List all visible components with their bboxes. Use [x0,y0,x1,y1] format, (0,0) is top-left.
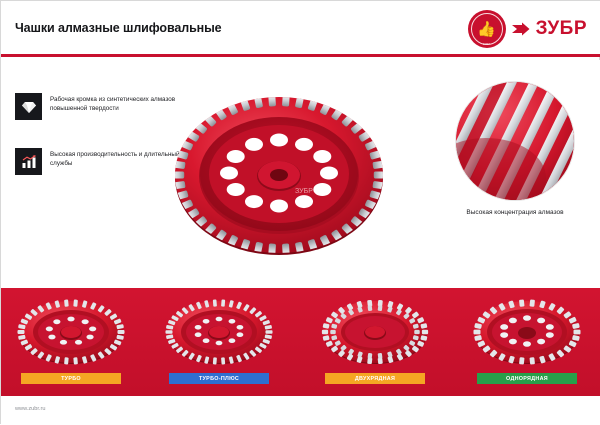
magnified-detail-image [456,82,574,200]
brand-name: ЗУБР [536,18,587,40]
footer-url[interactable]: www.zubr.ru [15,406,45,412]
product-variant-turbo-plus[interactable]: ТУРБО-ПЛЮС [155,296,283,388]
product-variant-turbo[interactable]: ТУРБО [7,296,135,388]
product-variant-two-row[interactable]: ДВУХРЯДНАЯ [311,296,439,388]
product-thumb [7,296,135,368]
svg-text:ЗУБР: ЗУБР [295,188,313,195]
poster-page: Чашки алмазные шлифовальные 👍 ЗУБР ЗУБР [0,0,600,424]
diamond-icon [15,93,42,120]
product-tag: ТУРБО [21,373,121,384]
brand-logo: 👍 ЗУБР ЗУБР [468,10,587,48]
seal-caption: ЗУБР [468,43,506,46]
arrow-right-icon [512,22,530,36]
magnified-detail-caption: Высокая концентрация алмазов [444,208,586,218]
footer-bar: www.zubr.ru [1,396,600,425]
product-thumb [463,296,591,368]
product-tag: ТУРБО-ПЛЮС [169,373,269,384]
product-tag: ОДНОРЯДНАЯ [477,373,577,384]
product-thumb [155,296,283,368]
product-variant-single-row[interactable]: ОДНОРЯДНАЯ [463,296,591,388]
page-title: Чашки алмазные шлифовальные [15,21,222,35]
product-variants-band: ТУРБО [1,288,600,396]
product-thumb [311,296,439,368]
bar-chart-up-icon [15,148,42,175]
brand-seal-icon: 👍 ЗУБР [468,10,506,48]
hero-section: Рабочая кромка из синтетических алмазов … [1,60,600,288]
main-product-image: ЗУБР [169,80,389,270]
product-tag: ДВУХРЯДНАЯ [325,373,425,384]
header-bar: Чашки алмазные шлифовальные 👍 ЗУБР ЗУБР [1,1,600,57]
seal-ring [471,13,503,45]
